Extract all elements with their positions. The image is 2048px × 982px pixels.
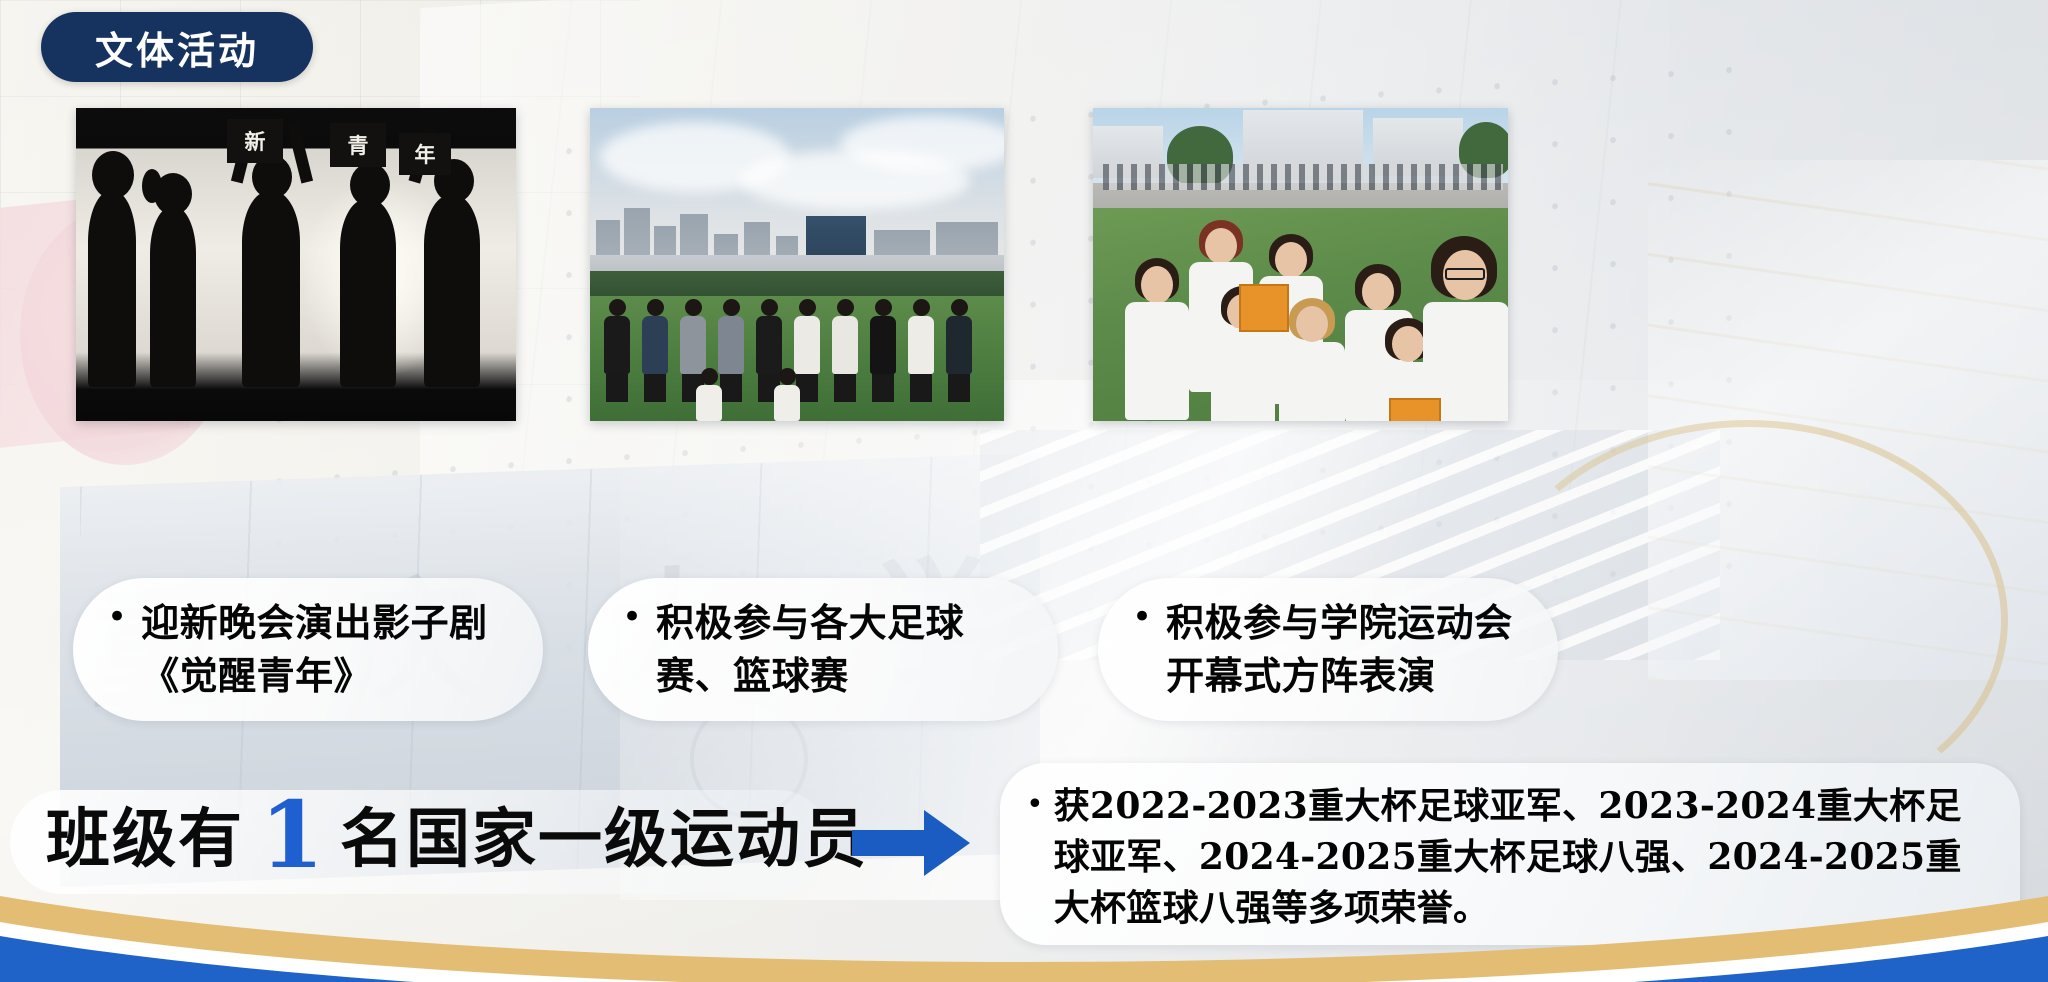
silhouette-figure bbox=[242, 191, 300, 387]
team-member bbox=[832, 299, 858, 402]
goalkeeper bbox=[946, 299, 972, 402]
head bbox=[685, 299, 702, 316]
head bbox=[779, 368, 796, 385]
legs bbox=[644, 374, 666, 402]
face bbox=[1362, 273, 1394, 311]
torso bbox=[718, 316, 744, 374]
torso bbox=[756, 316, 782, 374]
team-member bbox=[642, 299, 668, 402]
silhouette-head bbox=[350, 163, 390, 207]
silhouette-figure bbox=[340, 199, 396, 387]
legs bbox=[720, 374, 742, 402]
background-gold-arcs bbox=[1488, 420, 2008, 820]
caption-bubble-1: • 迎新晚会演出影子剧《觉醒青年》 bbox=[73, 578, 543, 721]
head bbox=[875, 299, 892, 316]
soccer-team-photo bbox=[590, 108, 1004, 421]
shadow-play-photo: 新 青 年 bbox=[76, 108, 516, 421]
torso bbox=[908, 316, 934, 374]
legs bbox=[948, 374, 970, 402]
bullet-icon: • bbox=[622, 578, 642, 634]
sign-character: 新 bbox=[245, 126, 266, 156]
legs bbox=[606, 374, 628, 402]
sports-meet-photo bbox=[1093, 108, 1508, 421]
orange-box-prop bbox=[1239, 284, 1289, 332]
head bbox=[951, 299, 968, 316]
caption-text-2: 积极参与各大足球赛、篮球赛 bbox=[656, 597, 1058, 702]
head bbox=[761, 299, 778, 316]
legs bbox=[872, 374, 894, 402]
caption-bubble-2: • 积极参与各大足球赛、篮球赛 bbox=[588, 578, 1058, 721]
legs bbox=[834, 374, 856, 402]
team-member bbox=[908, 299, 934, 402]
legs bbox=[910, 374, 932, 402]
face bbox=[1392, 326, 1424, 362]
silhouette-head bbox=[92, 151, 134, 199]
bullet-icon: • bbox=[1132, 578, 1152, 634]
section-title-badge: 文体活动 bbox=[41, 12, 313, 82]
caption-text-1: 迎新晚会演出影子剧《觉醒青年》 bbox=[141, 597, 543, 702]
head bbox=[837, 299, 854, 316]
torso bbox=[604, 316, 630, 374]
silhouette-figure bbox=[424, 195, 480, 387]
head bbox=[609, 299, 626, 316]
shirt bbox=[1211, 328, 1275, 421]
head bbox=[913, 299, 930, 316]
sign-card-1: 新 bbox=[227, 119, 283, 163]
torso bbox=[832, 316, 858, 374]
head bbox=[701, 368, 718, 385]
sign-character: 青 bbox=[348, 130, 369, 160]
head bbox=[647, 299, 664, 316]
face bbox=[1141, 266, 1173, 304]
section-title-text: 文体活动 bbox=[95, 20, 259, 75]
torso bbox=[680, 316, 706, 374]
sign-character: 年 bbox=[415, 139, 436, 169]
team-member bbox=[696, 368, 722, 421]
torso bbox=[642, 316, 668, 374]
background-crowd bbox=[1103, 164, 1503, 190]
bullet-icon: • bbox=[107, 578, 127, 634]
shirt bbox=[1279, 342, 1345, 421]
torso bbox=[696, 385, 722, 421]
silhouette-ponytail bbox=[142, 169, 162, 203]
face bbox=[1296, 306, 1328, 342]
sign-card-3: 年 bbox=[399, 133, 451, 175]
caption-bubble-3: • 积极参与学院运动会开幕式方阵表演 bbox=[1098, 578, 1558, 721]
torso bbox=[774, 385, 800, 421]
silhouette-figure bbox=[150, 207, 196, 387]
torso bbox=[794, 316, 820, 374]
team-member bbox=[604, 299, 630, 402]
team-member bbox=[870, 299, 896, 402]
torso bbox=[946, 316, 972, 374]
slide-canvas: 重 庆 大 学 文体活动 新 青 年 bbox=[0, 0, 2048, 982]
orange-box-prop bbox=[1389, 398, 1441, 421]
sign-card-2: 青 bbox=[330, 123, 386, 167]
torso bbox=[870, 316, 896, 374]
glasses bbox=[1445, 268, 1485, 280]
head bbox=[723, 299, 740, 316]
head bbox=[799, 299, 816, 316]
shirt bbox=[1125, 302, 1189, 420]
caption-text-3: 积极参与学院运动会开幕式方阵表演 bbox=[1166, 597, 1558, 702]
team-member bbox=[774, 368, 800, 421]
face bbox=[1205, 228, 1237, 264]
bottom-ribbon bbox=[0, 852, 2048, 982]
face bbox=[1275, 242, 1307, 278]
silhouette-figure bbox=[88, 191, 136, 387]
